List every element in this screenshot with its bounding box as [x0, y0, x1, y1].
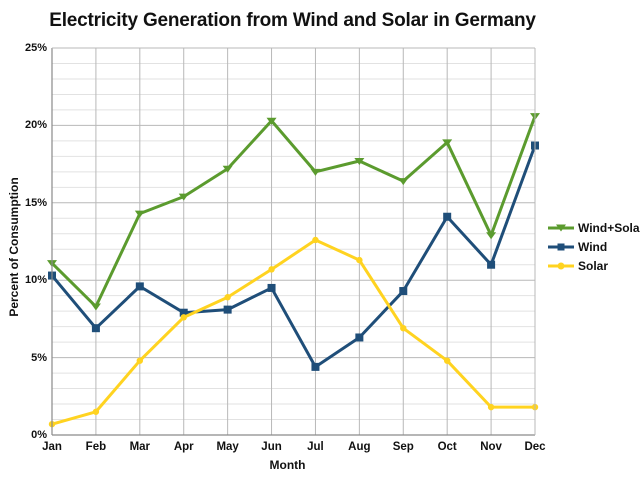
- legend-swatch-icon: [548, 260, 574, 272]
- x-tick-label: Jul: [307, 441, 324, 453]
- data-point-marker: [443, 213, 451, 221]
- y-tick-label: 25%: [25, 42, 47, 54]
- legend-swatch-icon: [548, 241, 574, 253]
- data-point-marker: [311, 363, 319, 371]
- legend-marker-icon: [556, 224, 566, 231]
- legend-label: Wind: [578, 240, 607, 254]
- data-point-marker: [400, 325, 406, 331]
- data-point-marker: [487, 261, 495, 269]
- data-point-marker: [444, 357, 450, 363]
- chart-legend: Wind+SolarWindSolar: [548, 218, 640, 275]
- x-tick-label: Sep: [393, 441, 414, 453]
- legend-item-wind[interactable]: Wind: [548, 237, 640, 256]
- x-tick-label: Feb: [86, 441, 106, 453]
- x-tick-label: May: [216, 441, 238, 453]
- data-point-marker: [93, 409, 99, 415]
- legend-item-solar[interactable]: Solar: [548, 256, 640, 275]
- x-tick-label: Jan: [42, 441, 62, 453]
- data-point-marker: [355, 333, 363, 341]
- data-point-marker: [224, 294, 230, 300]
- y-tick-label: 10%: [25, 274, 47, 286]
- legend-label: Solar: [578, 259, 608, 273]
- x-tick-label: Nov: [480, 441, 502, 453]
- x-tick-label: Oct: [438, 441, 457, 453]
- legend-label: Wind+Solar: [578, 221, 640, 235]
- y-tick-label: 0%: [31, 429, 47, 441]
- y-axis-title: Percent of Consumption: [7, 147, 21, 347]
- data-point-marker: [488, 404, 494, 410]
- data-point-marker: [356, 257, 362, 263]
- y-tick-label: 15%: [25, 197, 47, 209]
- x-tick-label: Dec: [524, 441, 545, 453]
- data-point-marker: [399, 287, 407, 295]
- data-point-marker: [312, 237, 318, 243]
- x-tick-label: Aug: [348, 441, 370, 453]
- data-point-marker: [92, 324, 100, 332]
- y-tick-label: 20%: [25, 119, 47, 131]
- chart-container: Electricity Generation from Wind and Sol…: [0, 0, 640, 480]
- data-point-marker: [268, 284, 276, 292]
- plot-svg: [52, 48, 535, 435]
- data-point-marker: [136, 282, 144, 290]
- legend-marker-icon: [558, 262, 565, 269]
- chart-title: Electricity Generation from Wind and Sol…: [0, 10, 585, 32]
- x-tick-label: Mar: [130, 441, 150, 453]
- x-tick-label: Apr: [174, 441, 194, 453]
- x-tick-label: Jun: [261, 441, 281, 453]
- y-tick-label: 5%: [31, 352, 47, 364]
- plot-area: 0%5%10%15%20%25% JanFebMarAprMayJunJulAu…: [52, 48, 535, 435]
- data-point-marker: [181, 314, 187, 320]
- data-point-marker: [268, 266, 274, 272]
- legend-marker-icon: [558, 243, 565, 250]
- x-axis-title: Month: [40, 458, 535, 472]
- data-point-marker: [224, 306, 232, 314]
- legend-swatch-icon: [548, 222, 574, 234]
- data-point-marker: [137, 357, 143, 363]
- legend-item-wind-solar[interactable]: Wind+Solar: [548, 218, 640, 237]
